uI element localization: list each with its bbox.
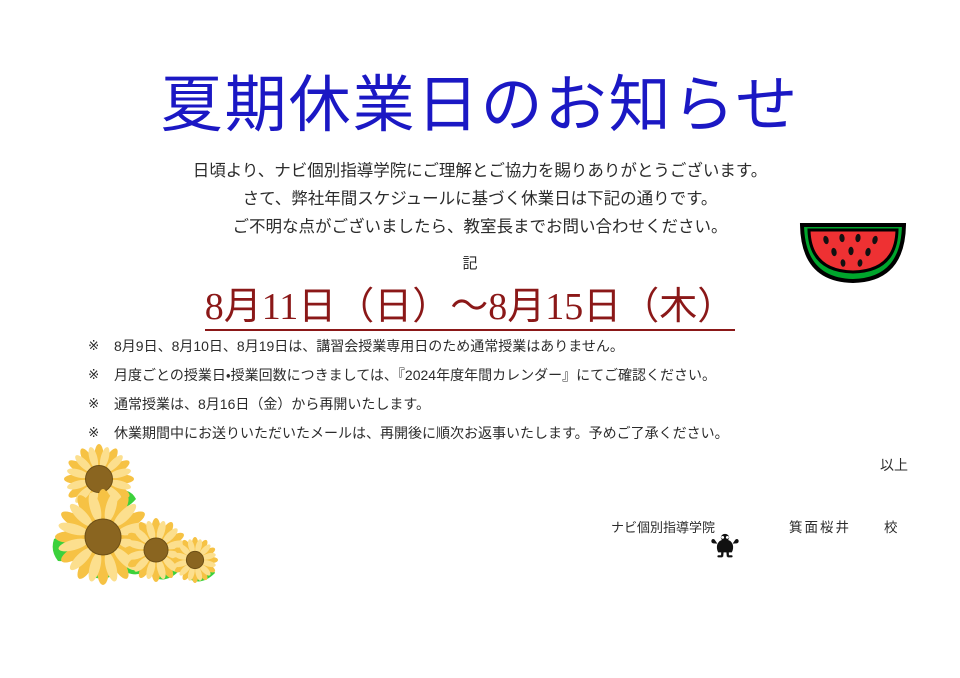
page-title: 夏期休業日のお知らせ [0,72,960,137]
notes-list: ※ 8月9日、8月10日、8月19日は、講習会授業専用日のため通常授業はありませ… [88,334,888,450]
brand-name: ナビ個別指導学院 [611,519,715,537]
navi-mascot-logo-icon [708,527,742,561]
note-item: ※ 8月9日、8月10日、8月19日は、講習会授業専用日のため通常授業はありませ… [88,334,888,363]
note-marker-icon: ※ [88,363,114,387]
note-marker-icon: ※ [88,392,114,416]
note-item: ※ 通常授業は、8月16日（金）から再開いたします。 [88,392,888,421]
sunflower-cluster-illustration [52,443,252,595]
note-marker-icon: ※ [88,334,114,358]
note-text: 通常授業は、8月16日（金）から再開いたします。 [114,392,430,416]
school-suffix: 校 [884,519,898,537]
notice-page: 夏期休業日のお知らせ 日頃より、ナビ個別指導学院にご理解とご協力を賜りありがとう… [0,0,960,678]
closure-date-range-text: 8月11日（日）〜8月15日（木） [205,286,736,331]
intro-line-1: 日頃より、ナビ個別指導学院にご理解とご協力を賜りありがとうございます。 [0,157,960,185]
note-item: ※ 月度ごとの授業日・授業回数につきましては、『2024年度年間カレンダー』にて… [88,363,888,392]
note-marker-icon: ※ [88,421,114,445]
school-name: 箕面桜井 [789,519,851,537]
note-text: 月度ごとの授業日・授業回数につきましては、『2024年度年間カレンダー』にてご確… [114,363,716,387]
note-text: 休業期間中にお送りいただいたメールは、再開後に順次お返事いたします。予めご了承く… [114,421,729,445]
closure-date-range: 8月11日（日）〜8月15日（木） [0,285,940,329]
watermelon-slice-illustration [793,208,913,286]
note-text: 8月9日、8月10日、8月19日は、講習会授業専用日のため通常授業はありません。 [114,334,624,358]
